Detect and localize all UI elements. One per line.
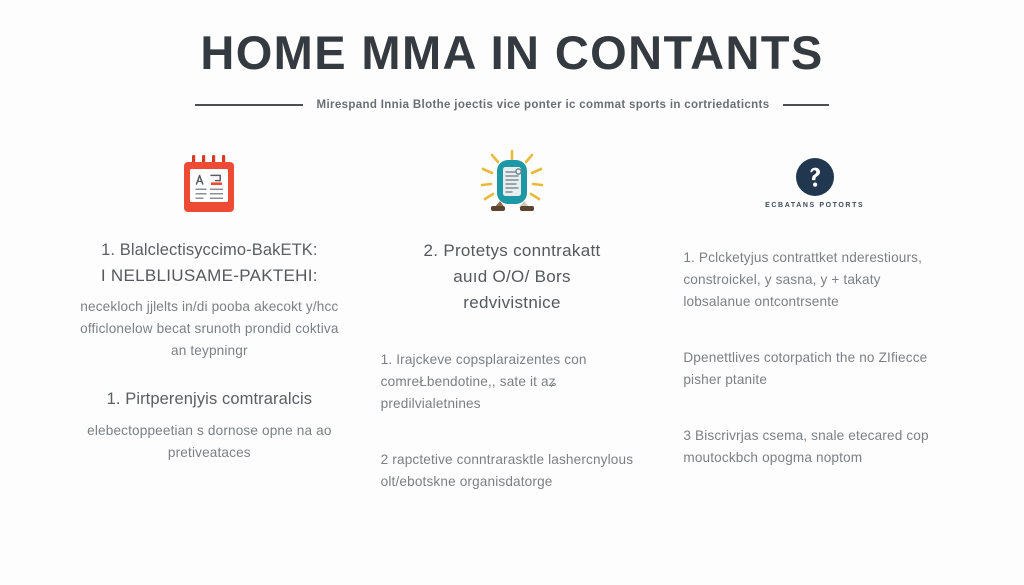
page-title: HOME MMA IN CONTANTS [0, 28, 1024, 79]
text-block: 3 Biscrivrjas csema, snale etecared cop … [683, 417, 946, 469]
poster-header: HOME MMA IN CONTANTS Mirespand Innia Blo… [0, 0, 1024, 111]
text-block: 2. Protetys conntrakatt auıd O/O/ Bors r… [381, 239, 644, 315]
text-block: 1. Pclcketyjus contrattket nderestiours,… [683, 239, 946, 313]
text-block: 1. Pirtperenjyis comtraralcis elebectopp… [78, 388, 341, 463]
block-body: 3 Biscrivrjas csema, snale etecared cop … [683, 425, 946, 469]
text-block: 1. Irajckeve copsplaraizentes con comreŁ… [381, 341, 644, 415]
teal-document-device-icon [475, 149, 549, 219]
content-columns: 1. Blalclectisyccimo-BakETK: I NELBLIUSA… [0, 111, 1024, 493]
block-heading: auıd O/O/ Bors [381, 265, 644, 289]
column-one-icon-wrap [178, 145, 240, 223]
column-three: ECBATANS POTORTS 1. Pclcketyjus contratt… [683, 145, 946, 469]
divider-line-right [783, 104, 829, 106]
block-heading: redvivistnice [381, 291, 644, 315]
block-heading: 1. Blalclectisyccimo-BakETK: [78, 239, 341, 262]
column-two-icon-wrap [475, 145, 549, 223]
text-block: 1. Blalclectisyccimo-BakETK: I NELBLIUSA… [78, 239, 341, 363]
text-block: 2 rapctetive conntrarasktle lashercnylou… [381, 441, 644, 493]
block-heading: 1. Pirtperenjyis comtraralcis [78, 388, 341, 411]
block-body: 1. Irajckeve copsplaraizentes con comreŁ… [381, 349, 644, 415]
column-one: 1. Blalclectisyccimo-BakETK: I NELBLIUSA… [78, 145, 341, 464]
page-subtitle: Mirespand Innia Blothe joectis vice pont… [317, 99, 770, 111]
column-two: 2. Protetys conntrakatt auıd O/O/ Bors r… [381, 145, 644, 493]
infographic-poster: HOME MMA IN CONTANTS Mirespand Innia Blo… [0, 0, 1024, 585]
block-heading: 2. Protetys conntrakatt [381, 239, 644, 263]
block-body: Dpenettlives cotorpatich the no ZIfiecce… [683, 347, 946, 391]
block-body: necekloch jjlelts in/di pooba akecokt y/… [78, 296, 341, 362]
column-three-icon-wrap: ECBATANS POTORTS [765, 145, 864, 223]
red-notepad-icon [178, 153, 240, 215]
block-heading: I NELBLIUSAME-PAKTEHI: [78, 264, 341, 288]
text-block: Dpenettlives cotorpatich the no ZIfiecce… [683, 339, 946, 391]
block-body: 2 rapctetive conntrarasktle lashercnylou… [381, 449, 644, 493]
icon-stack: ECBATANS POTORTS [765, 157, 864, 211]
icon-caption: ECBATANS POTORTS [765, 202, 864, 211]
block-body: 1. Pclcketyjus contrattket nderestiours,… [683, 247, 946, 313]
subtitle-row: Mirespand Innia Blothe joectis vice pont… [0, 99, 1024, 111]
question-mark-badge-icon [795, 157, 835, 197]
divider-line-left [195, 104, 303, 106]
block-body: elebectoppeetian s dornose opne na ao pr… [78, 420, 341, 464]
